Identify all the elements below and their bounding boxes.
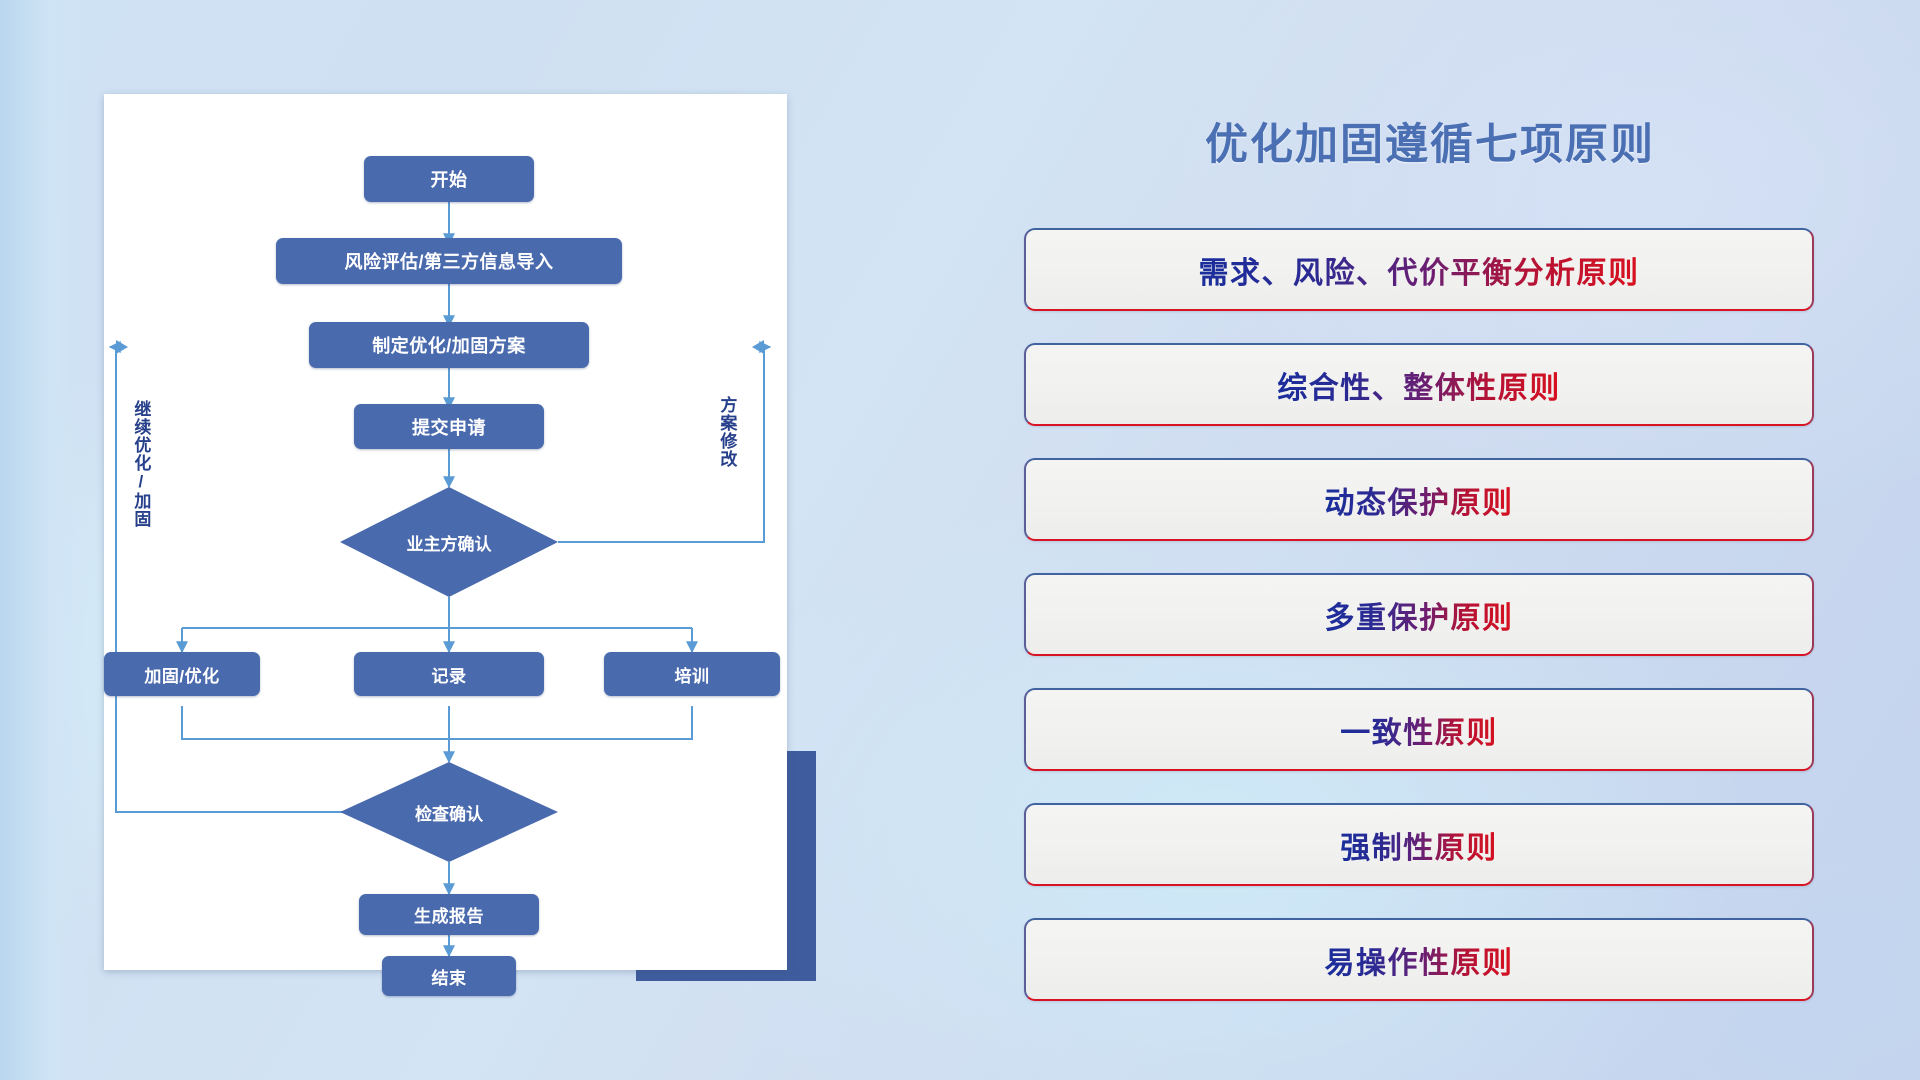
- flow-node-start[interactable]: 开始: [364, 156, 534, 202]
- principle-item-1-label: 需求、风险、代价平衡分析原则: [1199, 248, 1640, 292]
- flow-node-end[interactable]: 结束: [382, 956, 516, 996]
- flow-node-training[interactable]: 培训: [604, 652, 780, 696]
- slide-canvas: 开始 风险评估/第三方信息导入 制定优化/加固方案 提交申请 业主方确认 加固/…: [0, 0, 1920, 1080]
- principles-list: 需求、风险、代价平衡分析原则 综合性、整体性原则 动态保护原则 多重保护原则 一…: [1024, 228, 1814, 1033]
- principle-item-6-label: 强制性原则: [1340, 823, 1498, 867]
- flow-node-risk-assessment-label: 风险评估/第三方信息导入: [345, 248, 554, 274]
- flow-node-record[interactable]: 记录: [354, 652, 544, 696]
- principles-panel: 优化加固遵循七项原则 需求、风险、代价平衡分析原则 综合性、整体性原则 动态保护…: [1020, 0, 1920, 1080]
- flow-node-risk-assessment[interactable]: 风险评估/第三方信息导入: [276, 238, 622, 284]
- principle-item-7-label: 易操作性原则: [1325, 938, 1514, 982]
- principle-item-5-label: 一致性原则: [1340, 708, 1498, 752]
- decision-owner-confirm: [340, 487, 558, 597]
- flow-node-make-plan[interactable]: 制定优化/加固方案: [309, 322, 589, 368]
- principle-item-3-label: 动态保护原则: [1325, 478, 1514, 522]
- flow-node-make-plan-label: 制定优化/加固方案: [372, 332, 526, 358]
- principle-item-4[interactable]: 多重保护原则: [1024, 573, 1814, 656]
- principle-item-3[interactable]: 动态保护原则: [1024, 458, 1814, 541]
- flow-node-generate-report[interactable]: 生成报告: [359, 894, 539, 935]
- principle-item-6[interactable]: 强制性原则: [1024, 803, 1814, 886]
- principle-item-5[interactable]: 一致性原则: [1024, 688, 1814, 771]
- principles-panel-title: 优化加固遵循七项原则: [1020, 110, 1840, 172]
- flow-node-start-label: 开始: [431, 166, 468, 192]
- flow-node-reinforce-optimize-label: 加固/优化: [144, 662, 219, 687]
- edge-label-plan-revision: 方案修改: [718, 396, 735, 468]
- flow-node-generate-report-label: 生成报告: [414, 902, 484, 927]
- principle-item-4-label: 多重保护原则: [1325, 593, 1514, 637]
- principle-item-1[interactable]: 需求、风险、代价平衡分析原则: [1024, 228, 1814, 311]
- decision-final-check: [340, 762, 558, 862]
- flow-node-submit-application[interactable]: 提交申请: [354, 404, 544, 449]
- principle-item-2[interactable]: 综合性、整体性原则: [1024, 343, 1814, 426]
- flow-node-submit-application-label: 提交申请: [412, 414, 486, 440]
- edge-label-continue-optimize: 继续优化/加固: [132, 400, 149, 528]
- principle-item-7[interactable]: 易操作性原则: [1024, 918, 1814, 1001]
- process-flowchart-card: 开始 风险评估/第三方信息导入 制定优化/加固方案 提交申请 业主方确认 加固/…: [104, 94, 787, 970]
- principle-item-2-label: 综合性、整体性原则: [1277, 363, 1561, 407]
- flow-node-record-label: 记录: [432, 662, 467, 687]
- flow-node-end-label: 结束: [432, 964, 467, 989]
- flowchart-connectors: [104, 94, 787, 970]
- flow-node-training-label: 培训: [675, 662, 710, 687]
- flow-node-reinforce-optimize[interactable]: 加固/优化: [104, 652, 260, 696]
